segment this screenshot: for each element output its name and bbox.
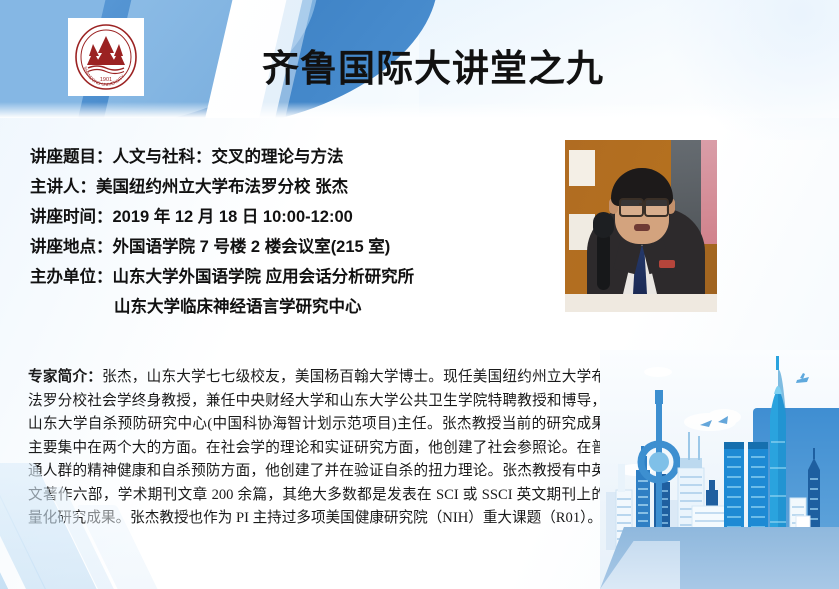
- lecture-poster: 1901 SHANDONG UNIVERSITY 齐鲁国际大讲堂之九 讲座题目：…: [0, 0, 839, 589]
- speaker-portrait-photo: [565, 140, 717, 312]
- portrait-backdrop-panel-far-right: [701, 140, 717, 244]
- portrait-eyeglass-left: [619, 198, 644, 217]
- info-row-topic: 讲座题目：人文与社科：交叉的理论与方法: [30, 142, 550, 172]
- portrait-eyeglass-bridge: [639, 203, 645, 205]
- microphone-stand-icon: [597, 232, 610, 290]
- city-skyline-illustration: [600, 350, 839, 589]
- page-title: 齐鲁国际大讲堂之九: [262, 38, 682, 92]
- biography-text: 张杰，山东大学七七级校友，美国杨百翰大学博士。现任美国纽约州立大学布法罗分校社会…: [28, 369, 606, 526]
- portrait-lapel-pin: [659, 260, 675, 268]
- info-row-organizer-second: 山东大学临床神经语言学研究中心: [30, 292, 550, 322]
- info-row-venue: 讲座地点：外国语学院 7 号楼 2 楼会议室(215 室): [30, 232, 550, 262]
- microphone-icon: [593, 212, 614, 238]
- info-row-time: 讲座时间：2019 年 12 月 18 日 10:00-12:00: [30, 202, 550, 232]
- building-tallest-skyscraper: [770, 356, 786, 552]
- portrait-mouth: [634, 224, 650, 231]
- lecture-info-block: 讲座题目：人文与社科：交叉的理论与方法 主讲人：美国纽约州立大学布法罗分校 张杰…: [30, 142, 550, 322]
- university-emblem-icon: 1901 SHANDONG UNIVERSITY: [73, 23, 139, 91]
- top-right-tint: [649, 0, 839, 140]
- biography-heading: 专家简介：: [28, 369, 102, 385]
- portrait-backdrop-panel-left-top: [569, 150, 595, 186]
- portrait-eyeglass-right: [644, 198, 669, 217]
- shandong-university-logo: 1901 SHANDONG UNIVERSITY: [68, 18, 144, 96]
- speaker-biography: 专家简介：张杰，山东大学七七级校友，美国杨百翰大学博士。现任美国纽约州立大学布法…: [28, 366, 606, 531]
- portrait-floor: [565, 294, 717, 312]
- info-row-speaker: 主讲人：美国纽约州立大学布法罗分校 张杰: [30, 172, 550, 202]
- airplane-silhouette: [796, 373, 809, 383]
- info-row-organizer: 主办单位：山东大学外国语学院 应用会话分析研究所: [30, 262, 550, 292]
